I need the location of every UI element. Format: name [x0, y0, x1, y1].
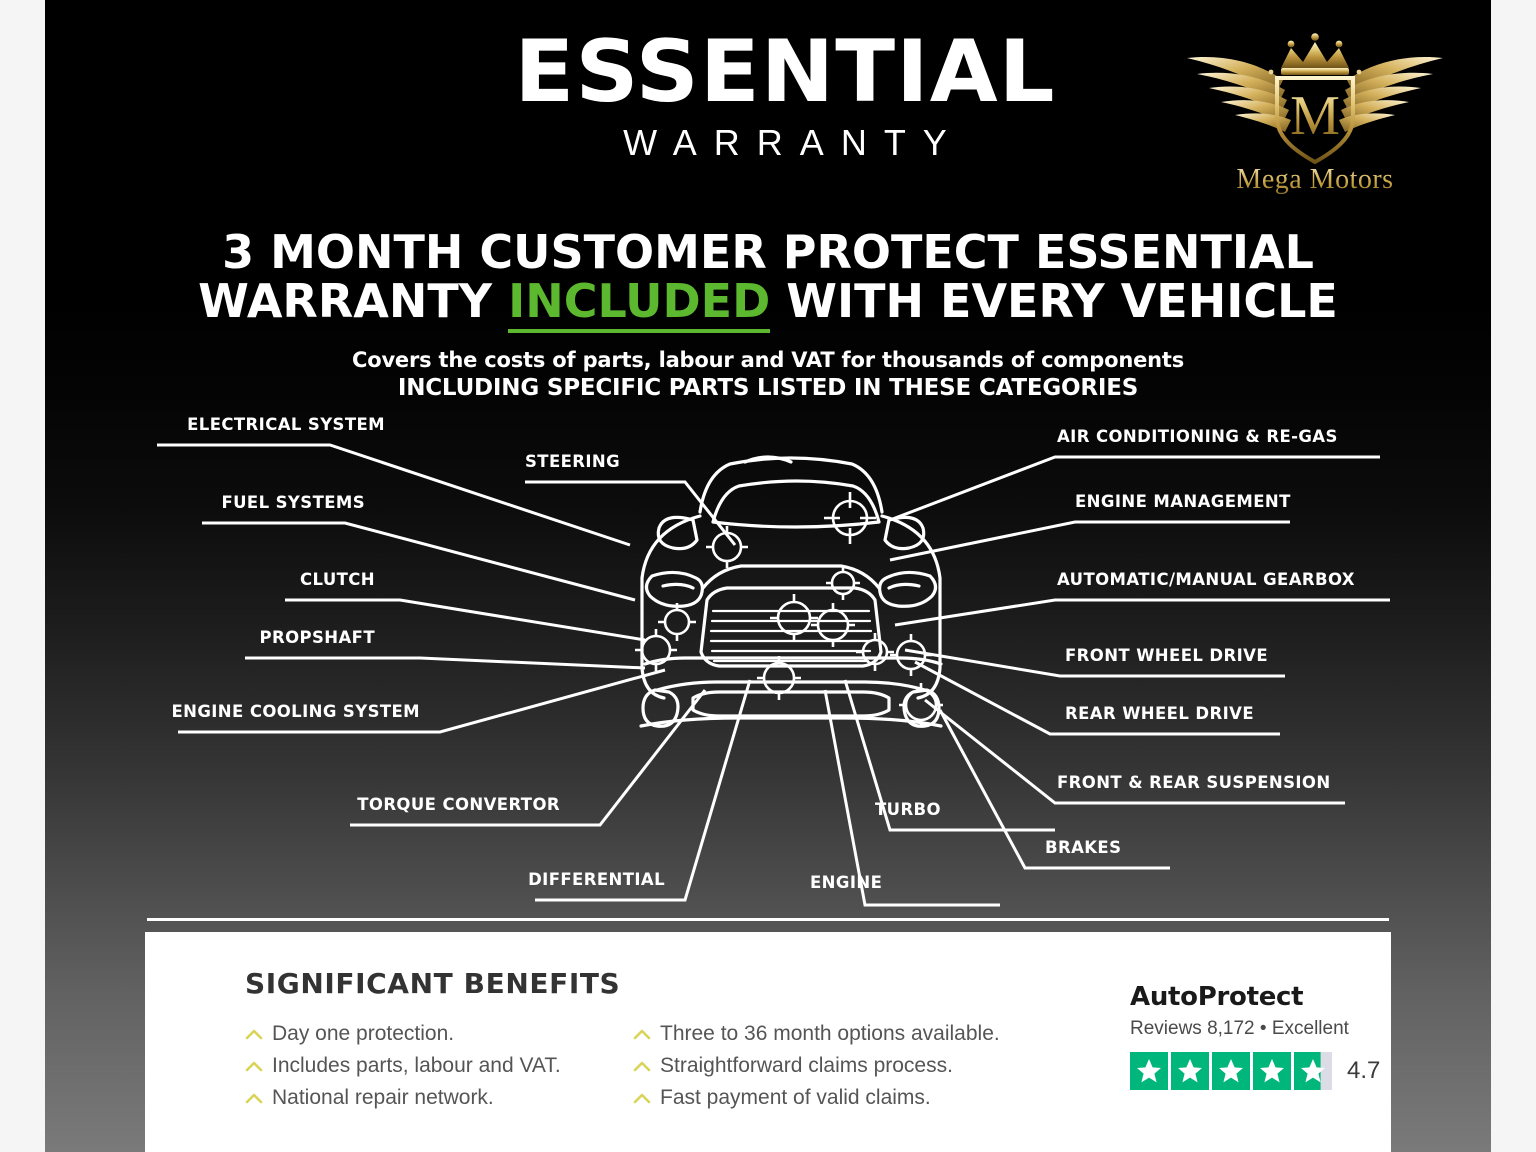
- star-icon-4: [1253, 1052, 1291, 1090]
- provider-name: AutoProtect: [1130, 982, 1380, 1012]
- star-icon-1: [1130, 1052, 1168, 1090]
- autoprotect-rating: AutoProtect Reviews 8,172 • Excellent: [1130, 982, 1380, 1090]
- benefit-text: Includes parts, labour and VAT.: [272, 1054, 561, 1078]
- reviews-quality: Excellent: [1272, 1018, 1349, 1039]
- benefit-item: National repair network.: [245, 1086, 561, 1110]
- benefit-item: Straightforward claims process.: [633, 1054, 1000, 1078]
- benefit-text: Fast payment of valid claims.: [660, 1086, 931, 1110]
- reviews-count: Reviews 8,172: [1130, 1018, 1255, 1039]
- warranty-poster: ESSENTIAL WARRANTY: [45, 0, 1491, 1152]
- label-differential: DIFFERENTIAL: [45, 870, 665, 889]
- chevron-up-icon: [245, 1092, 263, 1112]
- label-air-conditioning-re-gas: AIR CONDITIONING & RE-GAS: [1057, 427, 1338, 446]
- label-steering: STEERING: [525, 452, 620, 471]
- star-icon-5-partial: [1294, 1052, 1332, 1090]
- label-brakes: BRAKES: [1045, 838, 1121, 857]
- label-turbo: TURBO: [875, 800, 941, 819]
- benefit-text: National repair network.: [272, 1086, 494, 1110]
- label-engine: ENGINE: [810, 873, 882, 892]
- reviews-summary: Reviews 8,172 • Excellent: [1130, 1018, 1380, 1040]
- benefit-text: Day one protection.: [272, 1022, 454, 1046]
- label-front-rear-suspension: FRONT & REAR SUSPENSION: [1057, 773, 1331, 792]
- label-engine-management: ENGINE MANAGEMENT: [1075, 492, 1291, 511]
- benefit-text: Three to 36 month options available.: [660, 1022, 1000, 1046]
- benefit-text: Straightforward claims process.: [660, 1054, 953, 1078]
- label-front-wheel-drive: FRONT WHEEL DRIVE: [1065, 646, 1268, 665]
- coverage-diagram: ELECTRICAL SYSTEM FUEL SYSTEMS CLUTCH PR…: [45, 0, 1491, 940]
- benefits-column-1: Day one protection. Includes parts, labo…: [245, 1022, 561, 1118]
- label-rear-wheel-drive: REAR WHEEL DRIVE: [1065, 704, 1254, 723]
- benefits-title: SIGNIFICANT BENEFITS: [245, 967, 620, 1000]
- reviews-separator: •: [1260, 1018, 1267, 1039]
- benefits-column-2: Three to 36 month options available. Str…: [633, 1022, 1000, 1118]
- chevron-up-icon: [245, 1028, 263, 1048]
- chevron-up-icon: [633, 1028, 651, 1048]
- star-icon-3: [1212, 1052, 1250, 1090]
- chevron-up-icon: [633, 1092, 651, 1112]
- label-electrical-system: ELECTRICAL SYSTEM: [45, 415, 385, 434]
- label-torque-convertor: TORQUE CONVERTOR: [45, 795, 560, 814]
- chevron-up-icon: [633, 1060, 651, 1080]
- benefits-panel: SIGNIFICANT BENEFITS Day one protection.…: [145, 932, 1391, 1152]
- label-fuel-systems: FUEL SYSTEMS: [45, 493, 365, 512]
- benefit-item: Three to 36 month options available.: [633, 1022, 1000, 1046]
- label-automatic-manual-gearbox: AUTOMATIC/MANUAL GEARBOX: [1057, 570, 1355, 589]
- label-engine-cooling-system: ENGINE COOLING SYSTEM: [45, 702, 420, 721]
- rating-score: 4.7: [1347, 1057, 1380, 1085]
- label-propshaft: PROPSHAFT: [45, 628, 375, 647]
- screenshot-canvas: ESSENTIAL WARRANTY: [0, 0, 1536, 1152]
- star-rating: 4.7: [1130, 1052, 1380, 1090]
- star-icon-2: [1171, 1052, 1209, 1090]
- label-clutch: CLUTCH: [45, 570, 375, 589]
- benefit-item: Includes parts, labour and VAT.: [245, 1054, 561, 1078]
- chevron-up-icon: [245, 1060, 263, 1080]
- benefit-item: Fast payment of valid claims.: [633, 1086, 1000, 1110]
- section-divider: [147, 918, 1389, 921]
- benefit-item: Day one protection.: [245, 1022, 561, 1046]
